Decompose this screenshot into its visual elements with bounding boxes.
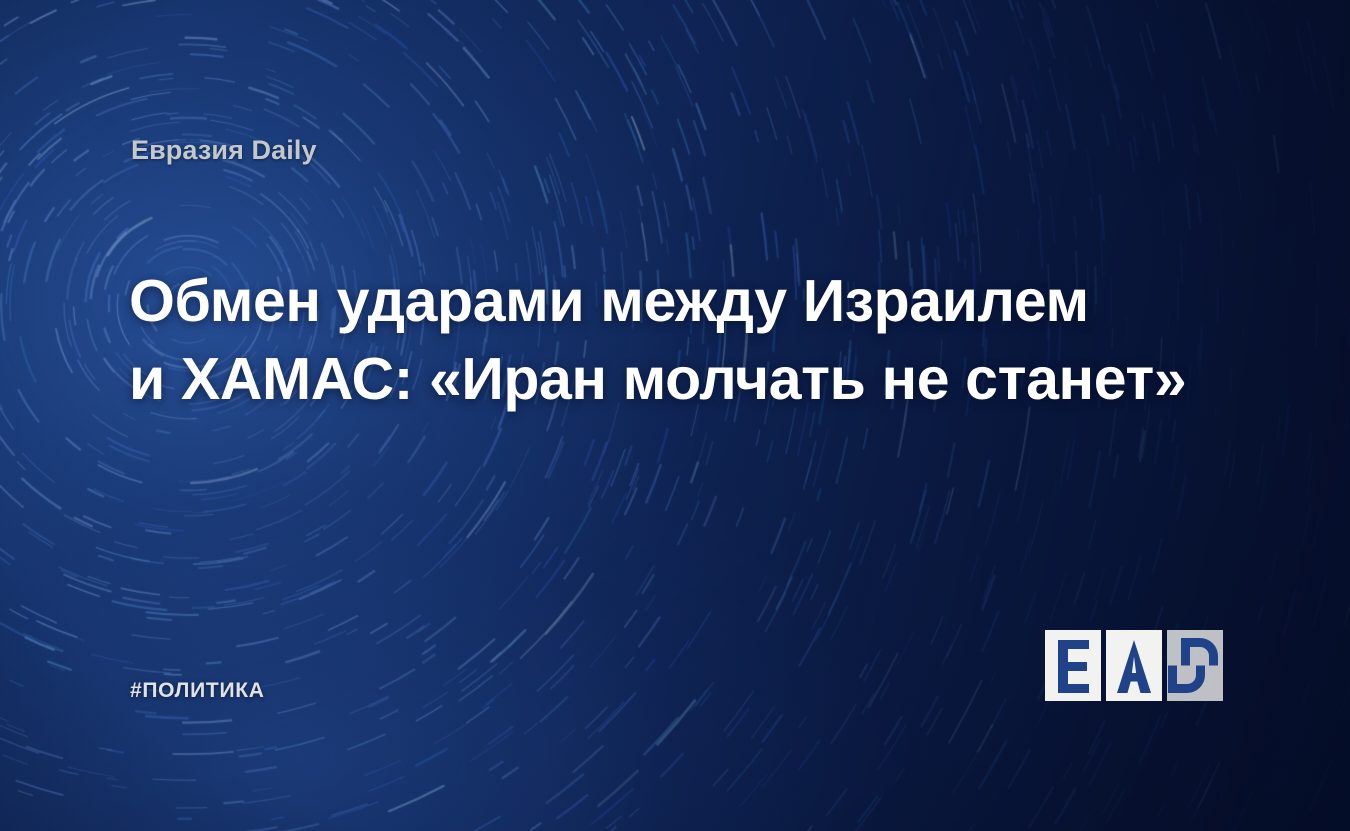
ead-logo[interactable] — [1045, 630, 1223, 701]
share-card: Евразия Daily Обмен ударами между Израил… — [0, 0, 1350, 831]
brand-name: Евразия Daily — [131, 135, 317, 166]
letter-d-split-icon — [1167, 630, 1223, 701]
letter-a-icon — [1106, 630, 1162, 701]
letter-e-icon — [1045, 630, 1101, 701]
card-content: Евразия Daily Обмен ударами между Израил… — [0, 0, 1350, 831]
topic-hashtag[interactable]: #ПОЛИТИКА — [130, 679, 265, 703]
logo-tile-d — [1167, 630, 1223, 701]
headline-line-2: и ХАМАС: «Иран молчать не станет» — [129, 340, 1189, 418]
headline: Обмен ударами между Израилем и ХАМАС: «И… — [129, 262, 1189, 419]
logo-tile-a — [1106, 630, 1162, 701]
headline-line-1: Обмен ударами между Израилем — [129, 262, 1189, 340]
logo-tile-e — [1045, 630, 1101, 701]
